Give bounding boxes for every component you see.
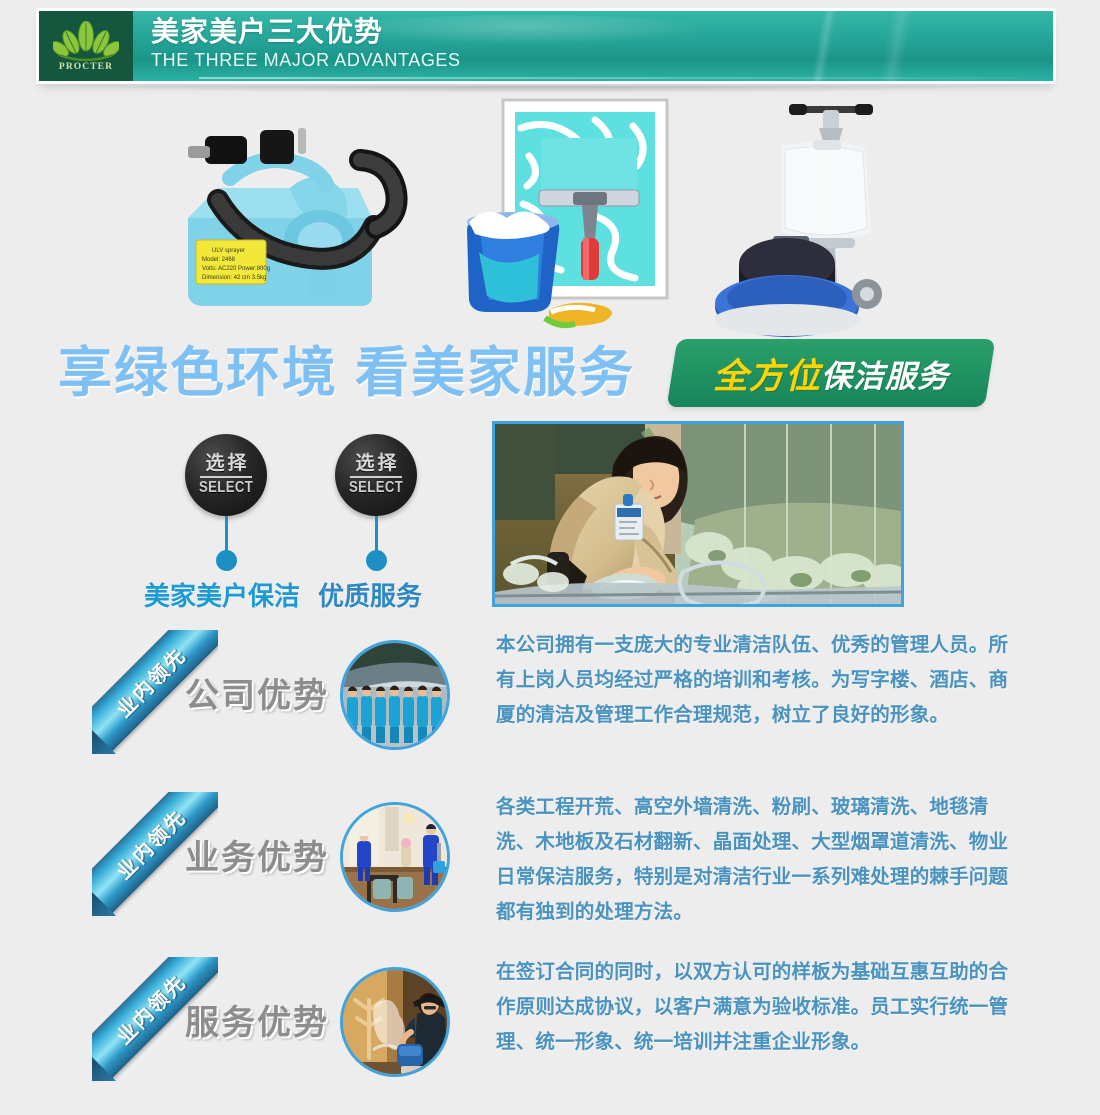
advantage-title: 公司优势 — [185, 668, 329, 717]
select-badge-circle: 选择 SELECT — [335, 434, 417, 516]
svg-text:ULV sprayer: ULV sprayer — [212, 248, 245, 254]
worker-spraying-wall-image — [343, 970, 450, 1077]
svg-text:Model: 2468: Model: 2468 — [202, 257, 236, 263]
select-badge-label-1: 美家美户保洁 — [144, 576, 300, 613]
header-title-group: 美家美户三大优势 THE THREE MAJOR ADVANTAGES — [151, 16, 461, 72]
window-squeegee-image — [445, 92, 690, 332]
advantage-description: 本公司拥有一支庞大的专业清洁队伍、优秀的管理人员。所有上岗人员均经过严格的培训和… — [496, 628, 1016, 733]
advantage-row-business: 业内领先 业务优势 — [0, 790, 1100, 950]
floor-polisher-image — [715, 92, 940, 337]
select-badge-label-2: 优质服务 — [318, 576, 422, 613]
svg-text:Dimension: 42 cm 3.5kg: Dimension: 42 cm 3.5kg — [202, 275, 266, 281]
header-title-en: THE THREE MAJOR ADVANTAGES — [151, 48, 461, 72]
product-image-strip: ULV sprayer Model: 2468 Volts: AC220 Pow… — [0, 92, 1100, 337]
select-badge-rule — [350, 476, 402, 478]
staff-team-lineup-image — [343, 643, 450, 750]
select-badge-2[interactable]: 选择 SELECT — [335, 434, 417, 516]
header-title-cn: 美家美户三大优势 — [151, 16, 461, 48]
select-badge-rule — [200, 476, 252, 478]
select-badge-en: SELECT — [349, 479, 403, 497]
advantage-title: 业务优势 — [185, 830, 329, 879]
full-service-tag-text: 全方位 保洁服务 — [672, 339, 990, 407]
advantage-description: 在签订合同的同时，以双方认可的样板为基础互惠互助的合作原则达成协议，以客户满意为… — [496, 955, 1016, 1060]
ribbon-label: 业内领先 — [109, 640, 192, 723]
advantage-thumbnail-business — [340, 802, 450, 912]
worker-cleaning-glass-table-image — [495, 424, 904, 607]
main-headline: 享绿色环境 看美家服务 — [58, 342, 635, 404]
hero-photo — [492, 421, 904, 607]
advantage-description: 各类工程开荒、高空外墙清洗、粉刷、玻璃清洗、地毯清洗、木地板及石材翻新、晶面处理… — [496, 790, 1016, 930]
select-badge-cn: 选择 — [202, 453, 249, 474]
brand-logo[interactable]: PROCTER — [39, 11, 133, 81]
header-underline — [199, 77, 1019, 79]
select-badge-circle: 选择 SELECT — [185, 434, 267, 516]
header-banner: PROCTER 美家美户三大优势 THE THREE MAJOR ADVANTA… — [36, 8, 1056, 84]
ribbon-label: 业内领先 — [109, 802, 192, 885]
advantage-thumbnail-company — [340, 640, 450, 750]
pin-stem-icon — [225, 516, 228, 554]
advantage-thumbnail-service — [340, 967, 450, 1077]
select-badge-en: SELECT — [199, 479, 253, 497]
ulv-sprayer-image: ULV sprayer Model: 2468 Volts: AC220 Pow… — [160, 100, 410, 330]
select-badge-1[interactable]: 选择 SELECT — [185, 434, 267, 516]
header-bar: PROCTER 美家美户三大优势 THE THREE MAJOR ADVANTA… — [39, 11, 1053, 81]
svg-text:Volts: AC220 Power:800g: Volts: AC220 Power:800g — [202, 266, 270, 272]
pin-stem-icon — [375, 516, 378, 554]
pin-dot-icon — [216, 550, 237, 571]
advantage-row-company: 业内领先 公司优势 — [0, 628, 1100, 788]
full-service-tag-rest: 保洁服务 — [821, 351, 949, 396]
pin-dot-icon — [366, 550, 387, 571]
advantage-title: 服务优势 — [185, 995, 329, 1044]
brand-logo-text: PROCTER — [59, 62, 113, 72]
full-service-tag-highlight: 全方位 — [713, 348, 821, 399]
ribbon-label: 业内领先 — [109, 967, 192, 1050]
advantage-row-service: 业内领先 服务优势 — [0, 955, 1100, 1115]
select-badge-cn: 选择 — [352, 453, 399, 474]
full-service-tag: 全方位 保洁服务 — [672, 339, 990, 407]
header-slash-2 — [793, 11, 993, 81]
leaf-crown-icon — [53, 21, 119, 65]
indoor-cleaning-crew-image — [343, 805, 450, 912]
